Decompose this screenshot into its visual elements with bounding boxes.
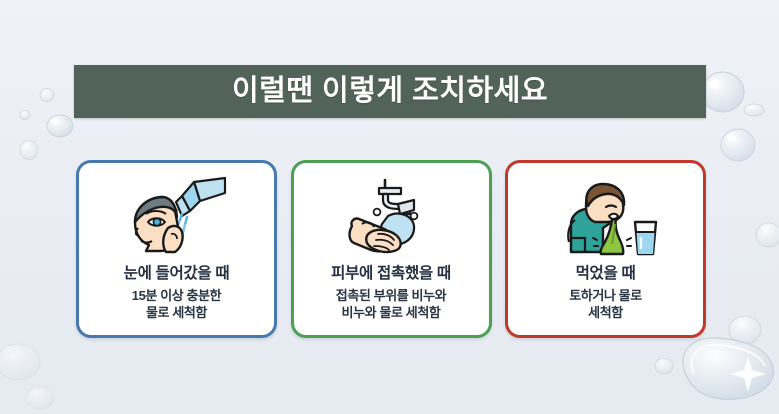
card-description-line-1: 15분 이상 충분한 (132, 287, 221, 304)
card-title: 눈에 들어갔을 때 (124, 265, 230, 282)
card-description-line-1: 토하거나 물로 (569, 287, 642, 304)
card-description-line-1: 접촉된 부위를 비누와 (336, 287, 446, 304)
infographic-slide: 이럴땐 이렇게 조치하세요 (0, 0, 779, 414)
vomiting-person-water-glass-icon (550, 175, 662, 257)
eye-rinse-shower-icon (121, 175, 233, 257)
card-eye-contact[interactable]: 눈에 들어갔을 때 15분 이상 충분한 물로 세척함 (76, 160, 277, 338)
card-description: 토하거나 물로 세척함 (569, 287, 642, 321)
water-droplet (20, 89, 73, 160)
card-description-line-2: 세척함 (569, 304, 642, 321)
card-description: 접촉된 부위를 비누와 비누와 물로 세척함 (336, 287, 446, 321)
action-card-row: 눈에 들어갔을 때 15분 이상 충분한 물로 세척함 (76, 160, 706, 338)
card-title: 피부에 접촉했을 때 (331, 265, 451, 282)
hand-washing-faucet-icon (335, 175, 447, 257)
card-title: 먹었을 때 (576, 265, 636, 282)
title-bar: 이럴땐 이렇게 조치하세요 (74, 65, 706, 118)
card-ingestion[interactable]: 먹었을 때 토하거나 물로 세척함 (505, 160, 706, 338)
page-title: 이럴땐 이렇게 조치하세요 (232, 77, 548, 106)
card-description-line-2: 물로 세척함 (132, 304, 221, 321)
card-description: 15분 이상 충분한 물로 세척함 (132, 287, 221, 321)
water-droplet (655, 338, 774, 399)
water-droplet (729, 223, 779, 344)
card-skin-contact[interactable]: 피부에 접촉했을 때 접촉된 부위를 비누와 비누와 물로 세척함 (291, 160, 492, 338)
water-droplet (0, 344, 54, 409)
water-droplet (702, 72, 764, 161)
card-description-line-2: 비누와 물로 세척함 (336, 304, 446, 321)
